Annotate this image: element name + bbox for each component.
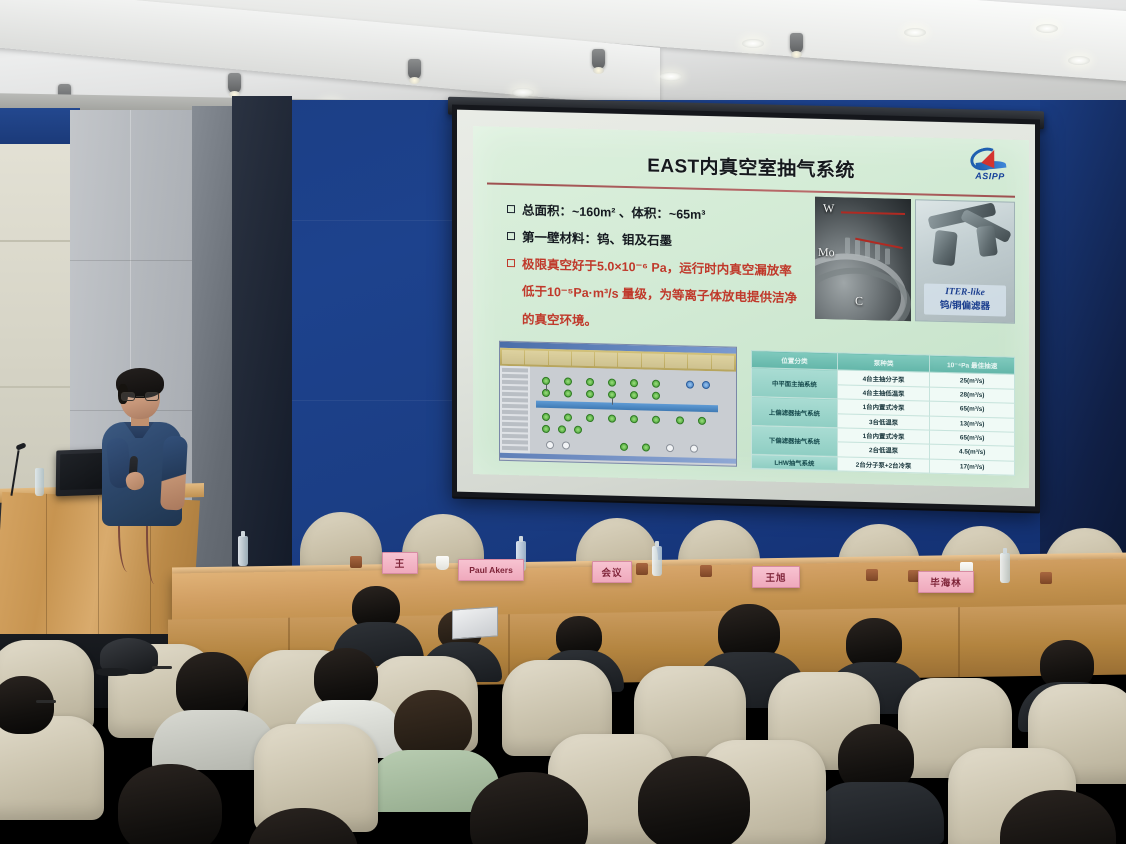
audience-head — [118, 764, 222, 844]
asipp-logo-text: ASIPP — [975, 171, 1005, 182]
slide-title: EAST内真空室抽气系统 — [473, 146, 1029, 187]
table-cell-category: 下偏滤器抽气系统 — [752, 426, 838, 457]
iter-like-divertor-photo: ITER-like 钨/铜偏滤器 — [915, 199, 1015, 324]
audience-cap — [100, 638, 158, 674]
ceiling-downlight — [904, 28, 926, 37]
table-header-cell: 10⁻⁴Pa 最佳抽速 — [930, 356, 1015, 375]
bullet-square-icon — [507, 259, 515, 267]
table-cell-category: 中平面主抽系统 — [752, 368, 838, 399]
ceiling-downlight — [512, 88, 534, 97]
ceiling-downlight — [660, 72, 682, 81]
wall-black-strip — [232, 96, 292, 596]
asipp-emblem-icon — [968, 147, 1012, 172]
ceiling-spotlight — [408, 59, 421, 79]
projection-screen: EAST内真空室抽气系统 ASIPP 总面积：~160m² 、体积：~65m³ — [452, 105, 1040, 512]
tokamak-label-mo: Mo — [818, 245, 835, 260]
audience-head — [638, 756, 750, 844]
table-header-cell: 位置分类 — [752, 351, 838, 370]
ceiling-spotlight — [790, 33, 803, 53]
tea-mug — [866, 569, 878, 581]
bullet-text: 低于10⁻⁵Pa·m³/s 量级，为等离子体放电提供洁净 — [522, 283, 797, 308]
table-cell-category: LHW抽气系统 — [752, 454, 838, 471]
table-cell-category: 上偏滤器抽气系统 — [752, 397, 838, 428]
slide-bullet-cont: 的真空环境。 — [522, 310, 847, 336]
audience-head — [0, 676, 54, 734]
podium-water-bottle — [35, 468, 44, 496]
ceiling-spotlight — [592, 49, 605, 69]
slide-bullet-cont: 低于10⁻⁵Pa·m³/s 量级，为等离子体放电提供洁净 — [522, 283, 847, 309]
table-cell-value: 17(m³/s) — [930, 459, 1015, 476]
bullet-square-icon — [507, 232, 515, 240]
ceiling-downlight — [1036, 24, 1058, 33]
vacuum-pump-table: 位置分类 泵种类 10⁻⁴Pa 最佳抽速 中平面主抽系统 4台主抽分子泵 25(… — [751, 351, 1015, 476]
table-cell-pump: 2台分子泵+2台冷泵 — [837, 456, 930, 473]
vacuum-control-system-screenshot — [499, 341, 737, 467]
projection-surface: EAST内真空室抽气系统 ASIPP 总面积：~160m² 、体积：~65m³ — [457, 110, 1035, 507]
slide-bullet: 总面积：~160m² 、体积：~65m³ — [507, 201, 847, 228]
audience-head — [314, 648, 378, 708]
right-wall-dark — [1040, 100, 1126, 580]
water-bottle — [238, 536, 248, 566]
presentation-slide: EAST内真空室抽气系统 ASIPP 总面积：~160m² 、体积：~65m³ — [473, 126, 1029, 488]
name-placard: 毕海林 — [918, 571, 974, 593]
tokamak-label-w: W — [823, 201, 834, 216]
slide-bullet: 第一壁材料：钨、钼及石墨 — [507, 228, 847, 255]
ceiling-spotlight — [228, 73, 241, 93]
tea-mug — [636, 563, 648, 575]
ceiling-downlight — [742, 39, 764, 48]
water-bottle — [652, 546, 662, 576]
bullet-text: 总面积：~160m² 、体积：~65m³ — [522, 201, 705, 224]
ceiling-downlight — [1068, 56, 1090, 65]
tea-mug — [1040, 572, 1052, 584]
slide-bullet-list: 总面积：~160m² 、体积：~65m³ 第一壁材料：钨、钼及石墨 极限真空好于… — [507, 201, 847, 345]
slide-bullet: 极限真空好于5.0×10⁻⁶ Pa，运行时内真空漏放率 — [507, 255, 847, 282]
upper-left-blue-panel — [0, 108, 80, 144]
speaker-right-arm — [160, 435, 188, 510]
tokamak-interior-photo: W Mo C — [815, 197, 911, 321]
lecture-hall-photo: EAST内真空室抽气系统 ASIPP 总面积：~160m² 、体积：~65m³ — [0, 0, 1126, 844]
name-placard: 王 — [382, 552, 418, 574]
audience-laptop — [452, 606, 498, 639]
name-placard: 会议 — [592, 561, 632, 583]
name-placard: Paul Akers — [458, 559, 524, 581]
speaker-glasses — [121, 392, 159, 401]
audience-glasses — [36, 700, 56, 703]
audience-shoulders — [812, 782, 944, 844]
presenting-speaker — [96, 372, 196, 522]
bullet-text: 的真空环境。 — [522, 310, 597, 330]
tea-mug — [350, 556, 362, 568]
divertor-caption: ITER-like 钨/铜偏滤器 — [924, 284, 1006, 317]
slide-photo-block: W Mo C ITER-like 钨/铜偏滤器 — [815, 197, 1015, 324]
tea-mug — [700, 565, 712, 577]
bullet-text: 极限真空好于5.0×10⁻⁶ Pa，运行时内真空漏放率 — [522, 256, 792, 281]
bullet-square-icon — [507, 205, 515, 213]
name-placard: 王旭 — [752, 566, 800, 588]
bullet-text: 第一壁材料：钨、钼及石墨 — [522, 228, 672, 250]
divertor-caption-line2: 钨/铜偏滤器 — [924, 297, 1006, 313]
water-bottle — [1000, 553, 1010, 583]
asipp-logo: ASIPP — [959, 142, 1021, 186]
audience-glasses — [152, 666, 172, 669]
paper-cup — [436, 556, 449, 570]
tokamak-label-c: C — [855, 294, 863, 309]
